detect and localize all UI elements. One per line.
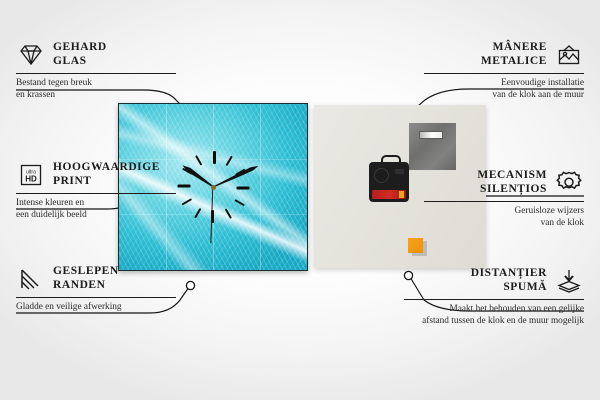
marker-polished-edges <box>186 281 194 289</box>
feature-foam-spacer: DISTANȚIERSPUMĂ Maakt het behouden van e… <box>404 266 584 328</box>
feature-description: Gladde en veilige afwerking <box>16 301 176 313</box>
feature-description: Maakt het behouden van een gelijkeafstan… <box>404 303 584 328</box>
divider <box>424 73 584 74</box>
divider <box>404 299 584 300</box>
divider <box>16 73 176 74</box>
metal-hanger-plate <box>409 123 456 170</box>
svg-text:HD: HD <box>25 175 37 184</box>
gear-icon <box>554 168 584 198</box>
divider <box>424 201 584 202</box>
feature-title: HOOGWAARDIGEPRINT <box>53 161 160 188</box>
feature-tempered-glass: GEHARDGLAS Bestand tegen breuken krassen <box>16 40 176 102</box>
feature-description: Eenvoudige installatievan de klok aan de… <box>424 77 584 102</box>
feature-title: MÂNEREMETALICE <box>481 41 547 68</box>
divider <box>16 297 176 298</box>
foam-spacer-block <box>408 238 423 253</box>
feature-title: DISTANȚIERSPUMĂ <box>471 267 547 294</box>
clock-mechanism <box>369 162 409 202</box>
feature-title: GEHARDGLAS <box>53 41 107 68</box>
clock-center-cap <box>211 185 216 190</box>
feature-description: Intense kleuren eneen duidelijk beeld <box>16 197 176 222</box>
spacer-stack-icon <box>554 266 584 296</box>
feature-silent-mechanism: MECANISMSILENȚIOS Geruisloze wijzersvan … <box>424 168 584 230</box>
feature-title: MECANISMSILENȚIOS <box>477 169 547 196</box>
feature-title: GESLEPENRANDEN <box>53 265 119 292</box>
feature-description: Geruisloze wijzersvan de klok <box>424 205 584 230</box>
feature-hd-print: ultra HD HOOGWAARDIGEPRINT Intense kleur… <box>16 160 176 222</box>
feature-metal-handles: MÂNEREMETALICE Eenvoudige installatievan… <box>424 40 584 102</box>
divider <box>16 193 176 194</box>
infographic-canvas: GEHARDGLAS Bestand tegen breuken krassen… <box>0 0 600 400</box>
feature-polished-edges: GESLEPENRANDEN Gladde en veilige afwerki… <box>16 264 176 313</box>
diamond-icon <box>16 40 46 70</box>
battery <box>372 190 406 199</box>
wall-mount-icon <box>554 40 584 70</box>
ultra-hd-icon: ultra HD <box>16 160 46 190</box>
feature-description: Bestand tegen breuken krassen <box>16 77 176 102</box>
polished-edges-icon <box>16 264 46 294</box>
